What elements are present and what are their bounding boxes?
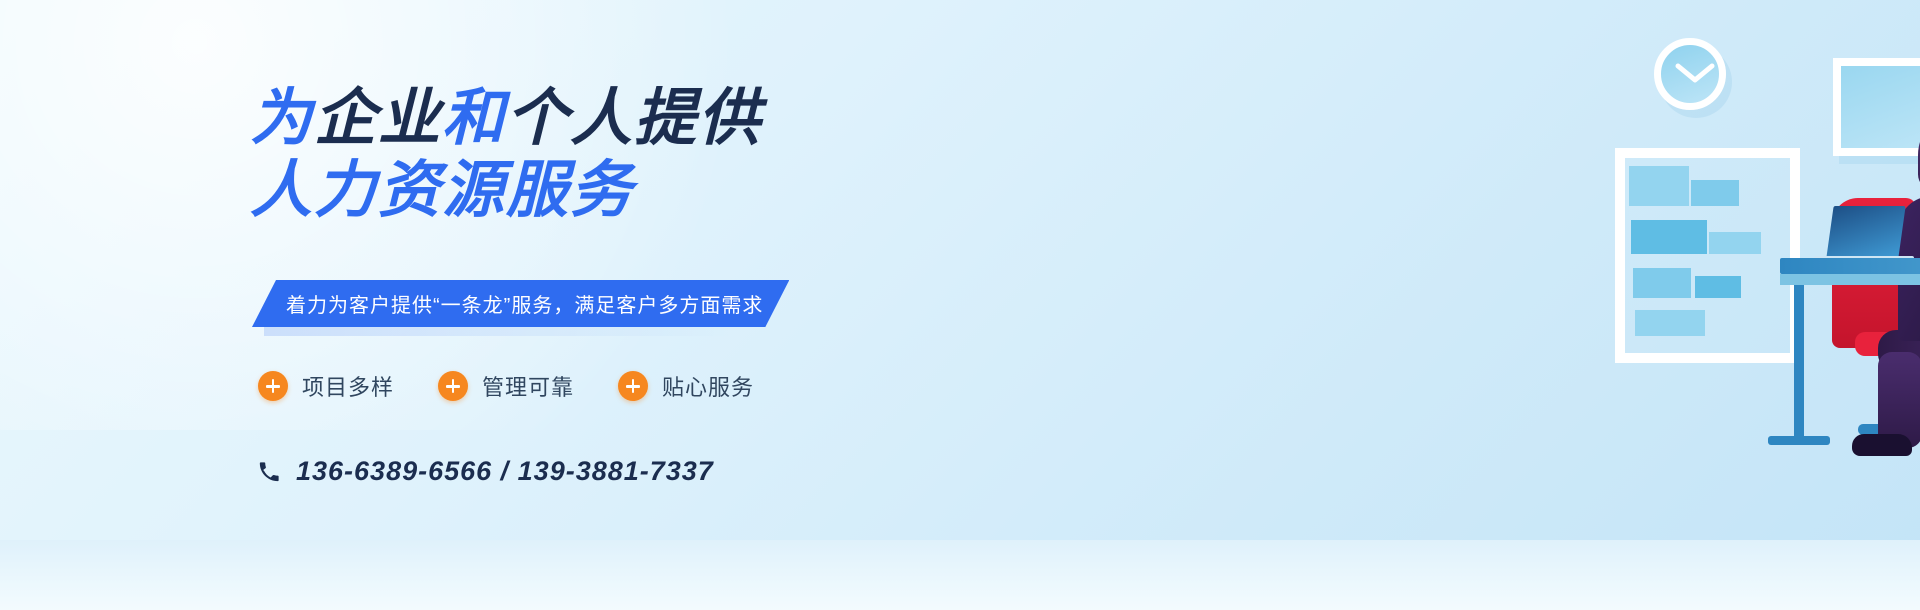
ribbon-shadow <box>264 327 734 336</box>
phone-number: 136-6389-6566 / 139-3881-7337 <box>296 456 714 487</box>
plus-icon <box>258 371 288 401</box>
picture-frame <box>1833 58 1920 156</box>
page-title: 为企业和个人提供 人力资源服务 <box>250 88 1070 222</box>
feature-item-2[interactable]: 管理可靠 <box>438 370 574 402</box>
headline-seg-4: 个人提供 <box>506 84 762 153</box>
window-left <box>1615 148 1800 363</box>
phone-icon <box>258 461 280 483</box>
feature-item-1[interactable]: 项目多样 <box>258 370 394 402</box>
contact-phone[interactable]: 136-6389-6566 / 139-3881-7337 <box>258 456 714 487</box>
wall-clock-icon <box>1654 38 1726 110</box>
person-left-shoe <box>1852 434 1912 456</box>
headline-seg-3: 和 <box>442 84 506 153</box>
banner-copy: 为企业和个人提供 人力资源服务 着力为客户提供“一条龙”服务，满足客户多方面需求… <box>250 88 1070 232</box>
subtitle-ribbon: 着力为客户提供“一条龙”服务，满足客户多方面需求 <box>252 280 789 327</box>
feature-label-1: 项目多样 <box>302 370 394 402</box>
hr-service-banner: 为企业和个人提供 人力资源服务 着力为客户提供“一条龙”服务，满足客户多方面需求… <box>0 0 1920 610</box>
subtitle-text: 着力为客户提供“一条龙”服务，满足客户多方面需求 <box>286 289 763 318</box>
feature-item-3[interactable]: 贴心服务 <box>618 370 754 402</box>
desk-leg-left <box>1794 285 1804 440</box>
laptop-screen <box>1826 206 1905 258</box>
feature-label-3: 贴心服务 <box>662 370 754 402</box>
desk-foot <box>1768 436 1830 445</box>
clock-check-icon <box>1675 63 1715 83</box>
desk-top <box>1780 258 1920 274</box>
headline-seg-2: 企业 <box>314 84 442 153</box>
plus-icon <box>438 371 468 401</box>
plus-icon <box>618 371 648 401</box>
headline-line-2: 人力资源服务 <box>250 160 1070 222</box>
headline-seg-1: 为 <box>250 84 314 153</box>
headline-line-1: 为企业和个人提供 <box>250 88 1070 150</box>
desk-edge <box>1780 274 1920 285</box>
feature-label-2: 管理可靠 <box>482 370 574 402</box>
feature-list: 项目多样 管理可靠 贴心服务 <box>258 370 754 402</box>
